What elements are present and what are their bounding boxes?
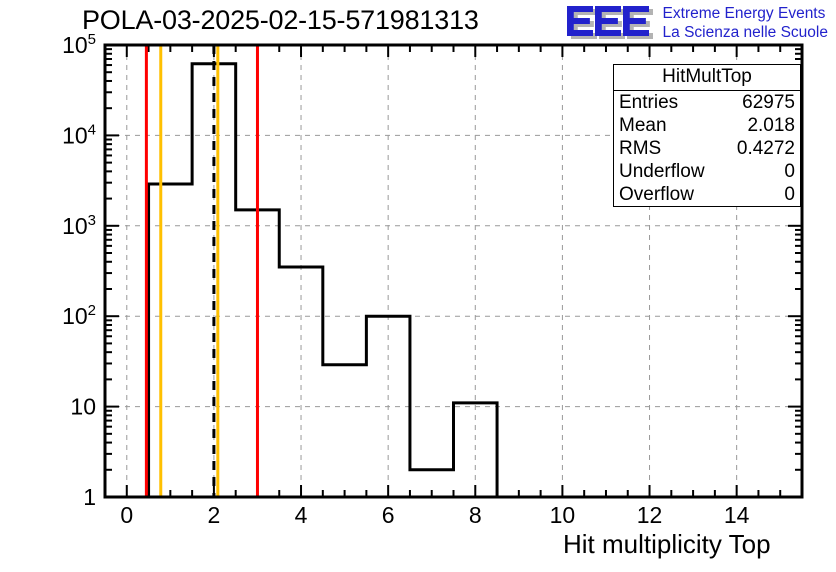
x-tick-label: 8 <box>469 502 482 528</box>
y-tick-label: 105 <box>62 31 96 58</box>
root-canvas: POLA-03-2025-02-15-571981313 Extreme Ene… <box>0 0 836 572</box>
marker-lines <box>146 45 257 497</box>
stats-row-label: Mean <box>619 114 667 137</box>
y-tick-label: 1 <box>83 484 96 510</box>
stats-row-label: Underflow <box>619 160 705 183</box>
stats-row-value: 0.4272 <box>737 137 795 160</box>
x-tick-label: 14 <box>724 502 750 528</box>
y-tick-label: 103 <box>62 212 96 239</box>
stats-row: Overflow0 <box>614 183 800 206</box>
x-tick-label: 10 <box>550 502 576 528</box>
x-tick-label: 4 <box>295 502 308 528</box>
stats-row-value: 2.018 <box>747 114 795 137</box>
stats-row: Mean2.018 <box>614 114 800 137</box>
stats-row-label: Entries <box>619 91 678 114</box>
x-axis-title: Hit multiplicity Top <box>563 529 771 560</box>
stats-row-value: 0 <box>784 160 795 183</box>
x-tick-label: 0 <box>120 502 133 528</box>
stats-row: Underflow0 <box>614 160 800 183</box>
y-tick-label: 102 <box>62 302 96 329</box>
stats-box: HitMultTop Entries62975Mean2.018RMS0.427… <box>613 64 801 207</box>
histogram-outline <box>149 64 498 497</box>
stats-row-label: Overflow <box>619 183 694 206</box>
y-tick-label: 10 <box>70 394 96 420</box>
x-tick-label: 6 <box>382 502 395 528</box>
stats-row: RMS0.4272 <box>614 137 800 160</box>
stats-row-label: RMS <box>619 137 661 160</box>
stats-rows: Entries62975Mean2.018RMS0.4272Underflow0… <box>614 91 800 206</box>
histogram-step-line <box>149 64 498 497</box>
y-tick-label: 104 <box>62 121 96 148</box>
x-tick-label: 2 <box>208 502 221 528</box>
stats-row: Entries62975 <box>614 91 800 114</box>
stats-row-value: 0 <box>784 183 795 206</box>
x-tick-label: 12 <box>637 502 663 528</box>
stats-row-value: 62975 <box>742 91 795 114</box>
stats-title: HitMultTop <box>614 65 800 91</box>
